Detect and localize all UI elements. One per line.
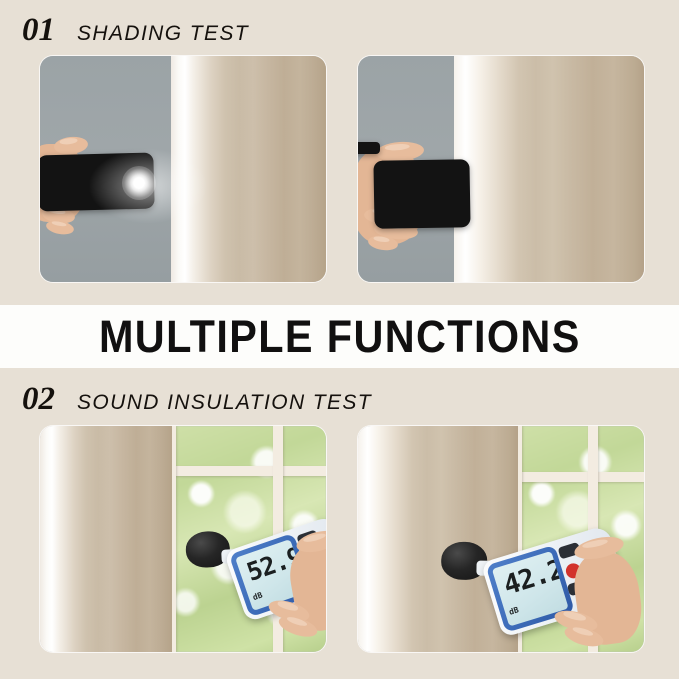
curtain-fabric — [454, 56, 644, 282]
banner-title: MULTIPLE FUNCTIONS — [99, 311, 581, 363]
smartphone-edge — [358, 142, 380, 154]
section-heading-02: 02 SOUND INSULATION TEST — [0, 383, 679, 416]
meter-unit-label: dB — [252, 591, 264, 602]
window-mullion-horizontal — [170, 466, 326, 476]
section-label-sound-insulation-test: SOUND INSULATION TEST — [77, 392, 372, 413]
panel-scene-shading-1 — [40, 56, 326, 282]
smartphone — [373, 159, 470, 229]
photo-panel-shading-light-blocked — [358, 56, 644, 282]
section-number-02: 02 — [22, 383, 55, 416]
section-label-shading-test: SHADING TEST — [77, 23, 249, 44]
photo-panel-shading-light-on — [40, 56, 326, 282]
photo-panel-sound-open-window: 52.9 dB BENETECH — [40, 426, 326, 652]
section-heading-01: 01 SHADING TEST — [0, 14, 679, 47]
meter-unit-label: dB — [508, 606, 520, 616]
window-mullion-horizontal — [516, 472, 644, 482]
flashlight-led — [122, 166, 156, 200]
curtain-fabric — [40, 426, 172, 652]
panel-scene-shading-2 — [358, 56, 644, 282]
banner-multiple-functions: MULTIPLE FUNCTIONS — [0, 305, 679, 368]
photo-panel-sound-behind-curtain: 42.2 dB BENETECH — [358, 426, 644, 652]
section-number-01: 01 — [22, 14, 55, 47]
panel-scene-sound-2: 42.2 dB BENETECH — [358, 426, 644, 652]
panel-scene-sound-1: 52.9 dB BENETECH — [40, 426, 326, 652]
